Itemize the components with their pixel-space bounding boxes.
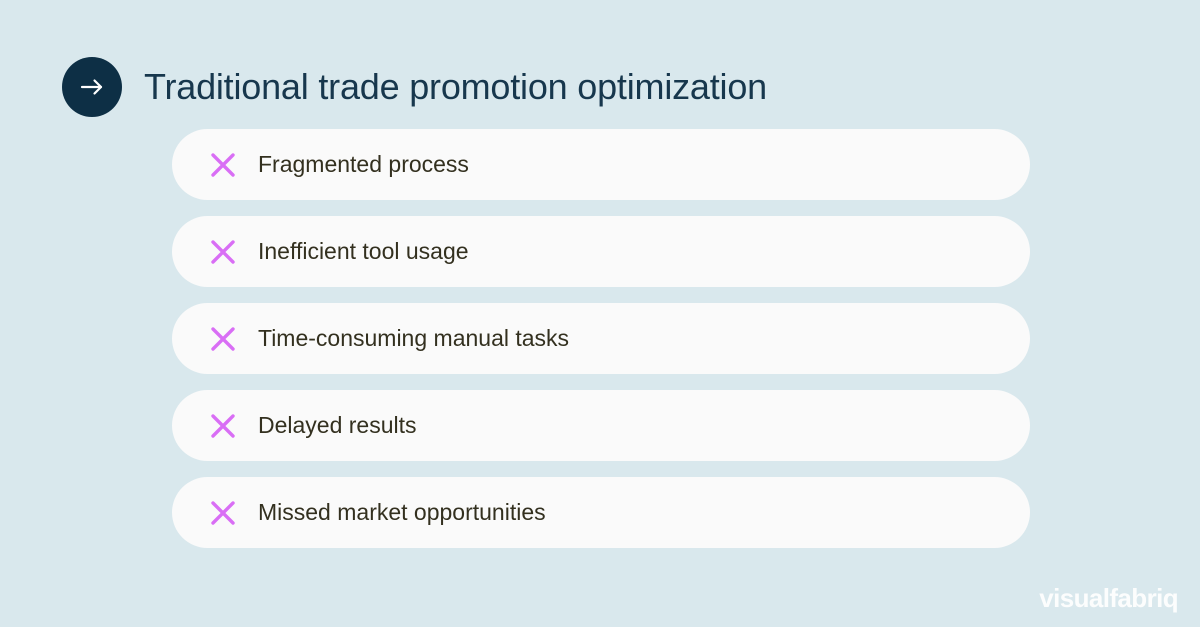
x-mark-icon bbox=[208, 498, 238, 528]
x-mark-icon bbox=[208, 150, 238, 180]
list-item-label: Inefficient tool usage bbox=[258, 240, 469, 263]
list-item[interactable]: Time-consuming manual tasks bbox=[172, 303, 1030, 374]
arrow-right-icon bbox=[62, 57, 122, 117]
x-mark-icon bbox=[208, 324, 238, 354]
list-item-label: Fragmented process bbox=[258, 153, 469, 176]
page-title: Traditional trade promotion optimization bbox=[144, 69, 767, 105]
list-item[interactable]: Missed market opportunities bbox=[172, 477, 1030, 548]
list-item[interactable]: Delayed results bbox=[172, 390, 1030, 461]
x-mark-icon bbox=[208, 411, 238, 441]
slide-canvas: Traditional trade promotion optimization… bbox=[0, 0, 1200, 627]
list-item[interactable]: Fragmented process bbox=[172, 129, 1030, 200]
list-item-label: Delayed results bbox=[258, 414, 417, 437]
visualfabriq-logo: visualfabriq bbox=[1039, 585, 1178, 611]
slide-header: Traditional trade promotion optimization bbox=[62, 45, 767, 129]
list-item[interactable]: Inefficient tool usage bbox=[172, 216, 1030, 287]
list-item-label: Time-consuming manual tasks bbox=[258, 327, 569, 350]
list-item-label: Missed market opportunities bbox=[258, 501, 546, 524]
pain-point-list: Fragmented process Inefficient tool usag… bbox=[172, 129, 1030, 548]
x-mark-icon bbox=[208, 237, 238, 267]
